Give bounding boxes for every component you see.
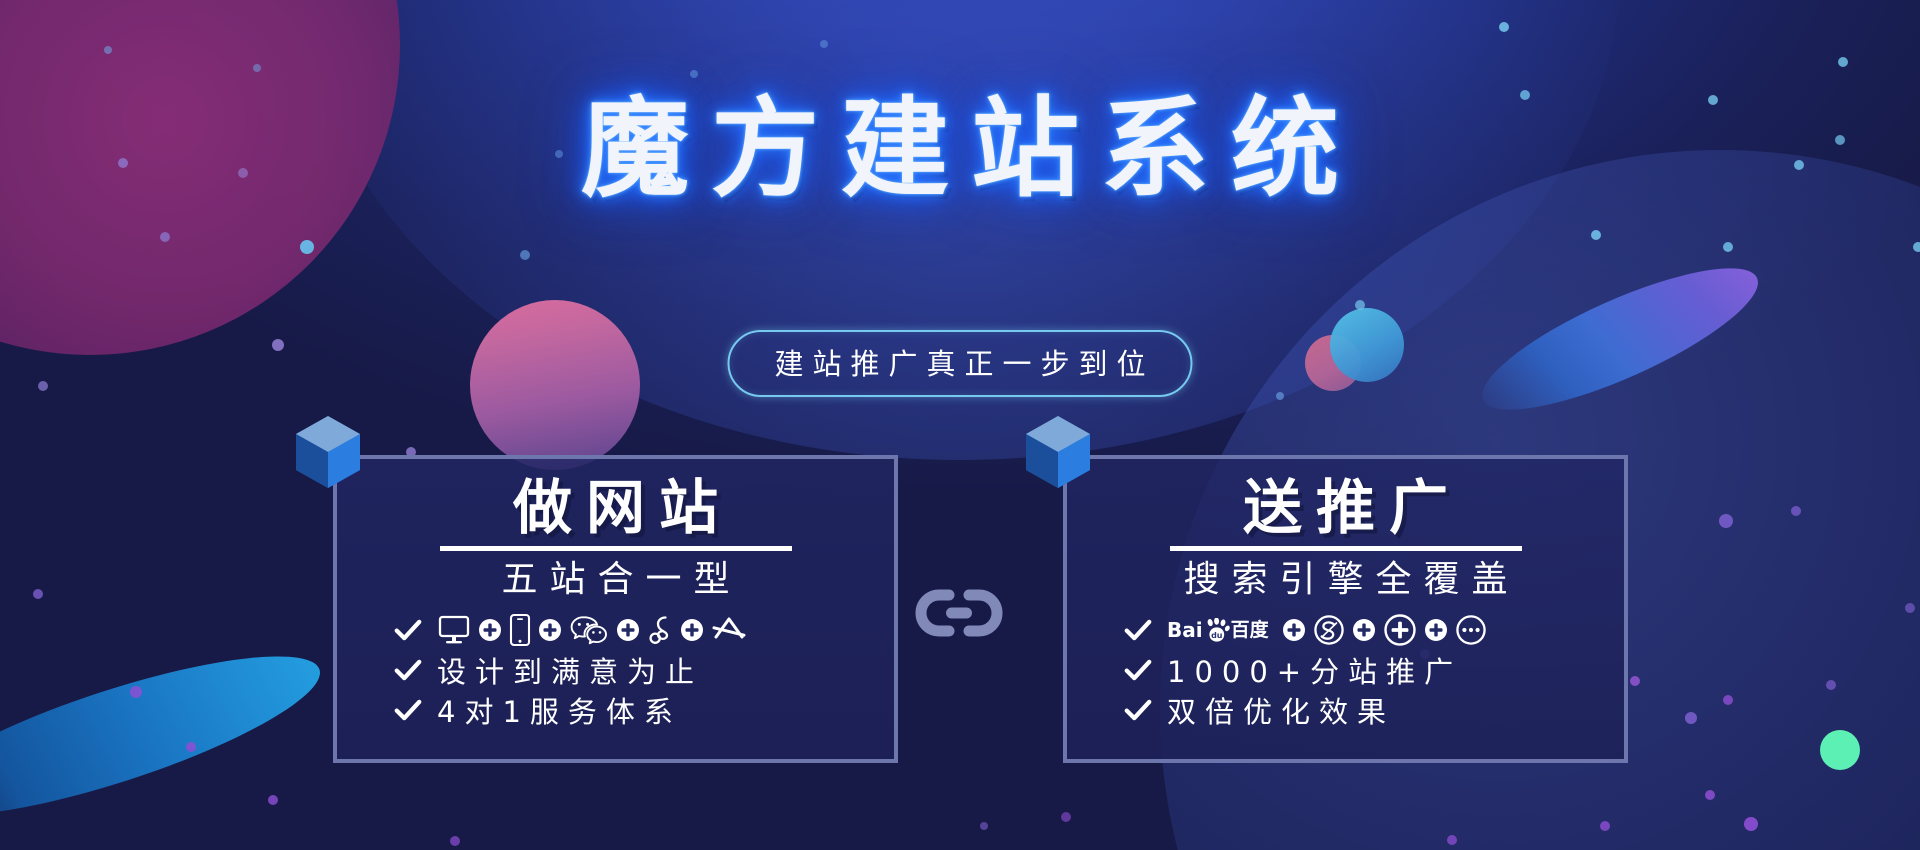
star-dot: [253, 64, 261, 72]
purple-comet-decoration: [1467, 242, 1773, 435]
feature-row-service: 4对1服务体系: [337, 690, 894, 730]
star-dot: [1719, 514, 1733, 528]
card-divider: [440, 546, 792, 551]
star-dot: [1744, 817, 1758, 831]
star-dot: [1791, 506, 1801, 516]
monitor-icon: [437, 614, 471, 646]
feature-row-engines: Bai du 百度: [1067, 610, 1624, 650]
star-dot: [1600, 821, 1610, 831]
platform-icon-strip: [437, 613, 747, 647]
baidu-latin-text: Bai: [1167, 620, 1203, 640]
star-dot: [1276, 392, 1284, 400]
check-icon: [393, 655, 423, 685]
star-dot: [1905, 603, 1915, 613]
card-title: 送推广: [1229, 475, 1462, 541]
cyan-planet-decoration: [1330, 308, 1404, 382]
star-dot: [1591, 230, 1601, 240]
blue-comet-decoration: [0, 626, 334, 846]
app-store-icon: [711, 615, 747, 645]
feature-row-subsites: 1000+分站推广: [1067, 650, 1624, 690]
baidu-chinese-text: 百度: [1231, 621, 1269, 640]
star-dot: [1723, 242, 1733, 252]
star-dot: [1499, 22, 1509, 32]
pink-planet-decoration: [470, 300, 640, 470]
star-dot: [38, 381, 48, 391]
card-subtitle: 搜索引擎全覆盖: [1171, 558, 1519, 601]
rose-planet-decoration: [1305, 335, 1361, 391]
page-title: 魔方建站系统: [559, 86, 1361, 213]
star-dot: [33, 589, 43, 599]
hero-block: 魔方建站系统: [0, 86, 1920, 213]
plus-icon: [680, 618, 704, 642]
mobile-phone-icon: [509, 613, 531, 647]
card-divider: [1170, 546, 1522, 551]
feature-text: 4对1服务体系: [437, 689, 682, 731]
feature-text: 1000+分站推广: [1167, 649, 1462, 691]
check-icon: [1123, 655, 1153, 685]
promo-banner: 魔方建站系统 建站推广真正一步到位 做网站 五站合一型: [0, 0, 1920, 850]
star-dot: [1723, 695, 1733, 705]
card-free-promotion[interactable]: 送推广 搜索引擎全覆盖 Bai: [1063, 455, 1628, 763]
360-icon: [1383, 613, 1417, 647]
star-dot: [690, 70, 698, 78]
star-dot: [1838, 57, 1848, 67]
star-dot: [1355, 300, 1365, 310]
star-dot: [450, 836, 460, 846]
star-dot: [980, 822, 988, 830]
feature-row-platforms: [337, 610, 894, 650]
plus-icon: [478, 618, 502, 642]
baidu-logo: Bai du 百度: [1167, 618, 1269, 642]
svg-text:du: du: [1211, 631, 1223, 640]
star-dot: [104, 46, 112, 54]
feature-row-design: 设计到满意为止: [337, 650, 894, 690]
qq-icon: [647, 613, 673, 647]
wechat-icon: [569, 614, 609, 646]
star-dot: [186, 742, 196, 752]
card-subtitle: 五站合一型: [489, 558, 741, 601]
sogou-icon: [1313, 614, 1345, 646]
check-icon: [1123, 615, 1153, 645]
feature-list: 设计到满意为止 4对1服务体系: [337, 610, 894, 730]
search-engine-icon-strip: Bai du 百度: [1167, 613, 1487, 647]
star-dot: [268, 795, 278, 805]
card-title: 做网站: [499, 475, 732, 541]
check-icon: [393, 695, 423, 725]
star-dot: [300, 240, 314, 254]
check-icon: [393, 615, 423, 645]
check-icon: [1123, 695, 1153, 725]
star-dot: [520, 250, 530, 260]
star-dot: [820, 40, 828, 48]
star-dot: [1685, 712, 1697, 724]
star-dot: [1913, 242, 1920, 252]
subtitle-pill: 建站推广真正一步到位: [727, 330, 1192, 397]
star-dot: [1447, 835, 1457, 845]
mint-dot-decoration: [1820, 730, 1860, 770]
feature-row-optimization: 双倍优化效果: [1067, 690, 1624, 730]
star-dot: [1826, 680, 1836, 690]
star-dot: [160, 232, 170, 242]
plus-icon: [538, 618, 562, 642]
feature-list: Bai du 百度: [1067, 610, 1624, 730]
feature-text: 双倍优化效果: [1167, 689, 1395, 731]
plus-icon: [1352, 618, 1376, 642]
star-dot: [1061, 812, 1071, 822]
star-dot: [1630, 676, 1640, 686]
star-dot: [272, 339, 284, 351]
plus-icon: [1424, 618, 1448, 642]
plus-icon: [616, 618, 640, 642]
subtitle-text: 建站推广真正一步到位: [765, 341, 1154, 383]
baidu-paw-icon: du: [1204, 618, 1230, 642]
card-make-website[interactable]: 做网站 五站合一型: [333, 455, 898, 763]
star-dot: [130, 686, 142, 698]
chain-link-icon: [913, 585, 1005, 641]
feature-text: 设计到满意为止: [437, 649, 703, 691]
more-ellipsis-icon: [1455, 614, 1487, 646]
star-dot: [1705, 790, 1715, 800]
plus-icon: [1282, 618, 1306, 642]
